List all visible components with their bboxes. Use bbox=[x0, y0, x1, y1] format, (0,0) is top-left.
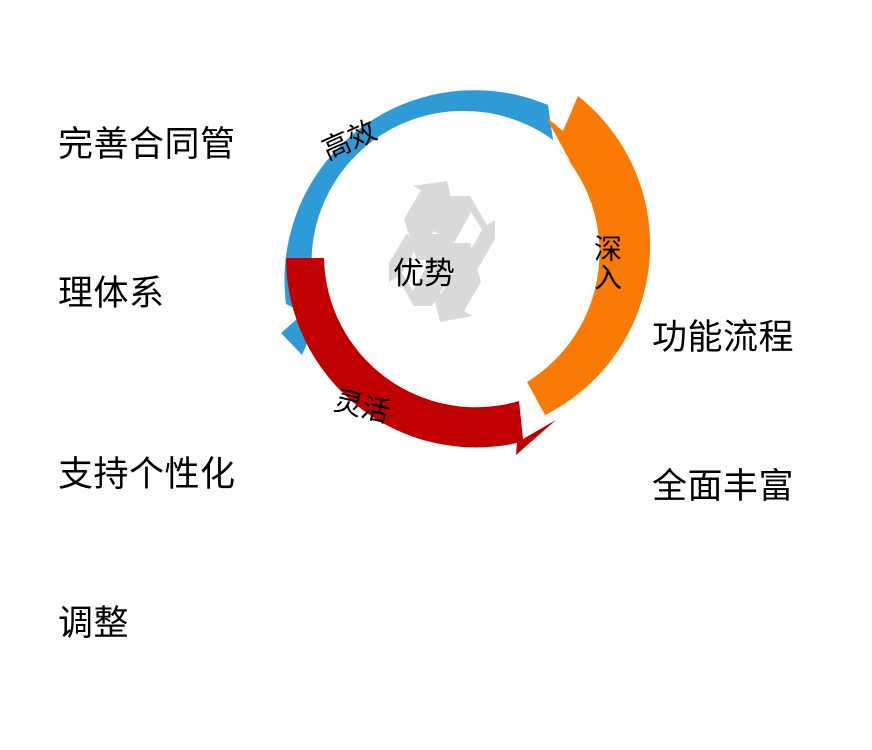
arc-label-orange: 深入 bbox=[592, 234, 620, 292]
caption-right: 功能流程 全面丰富 bbox=[652, 215, 794, 613]
caption-right-line1: 功能流程 bbox=[652, 314, 794, 364]
caption-top-left-line1: 完善合同管 bbox=[58, 121, 236, 171]
caption-bottom-left: 支持个性化 调整 bbox=[58, 352, 236, 750]
caption-top-left-line2: 理体系 bbox=[58, 270, 236, 320]
caption-right-line2: 全面丰富 bbox=[652, 463, 794, 513]
center-label: 优势 bbox=[393, 248, 455, 293]
caption-bottom-left-line2: 调整 bbox=[58, 600, 236, 650]
slide-canvas: 高效 深入 灵活 优势 完善合同管 理体系 功能流程 全面丰富 支持个性化 调整 bbox=[0, 0, 872, 511]
cycle-segment-orange[interactable] bbox=[527, 96, 650, 415]
caption-bottom-left-line1: 支持个性化 bbox=[58, 451, 236, 501]
